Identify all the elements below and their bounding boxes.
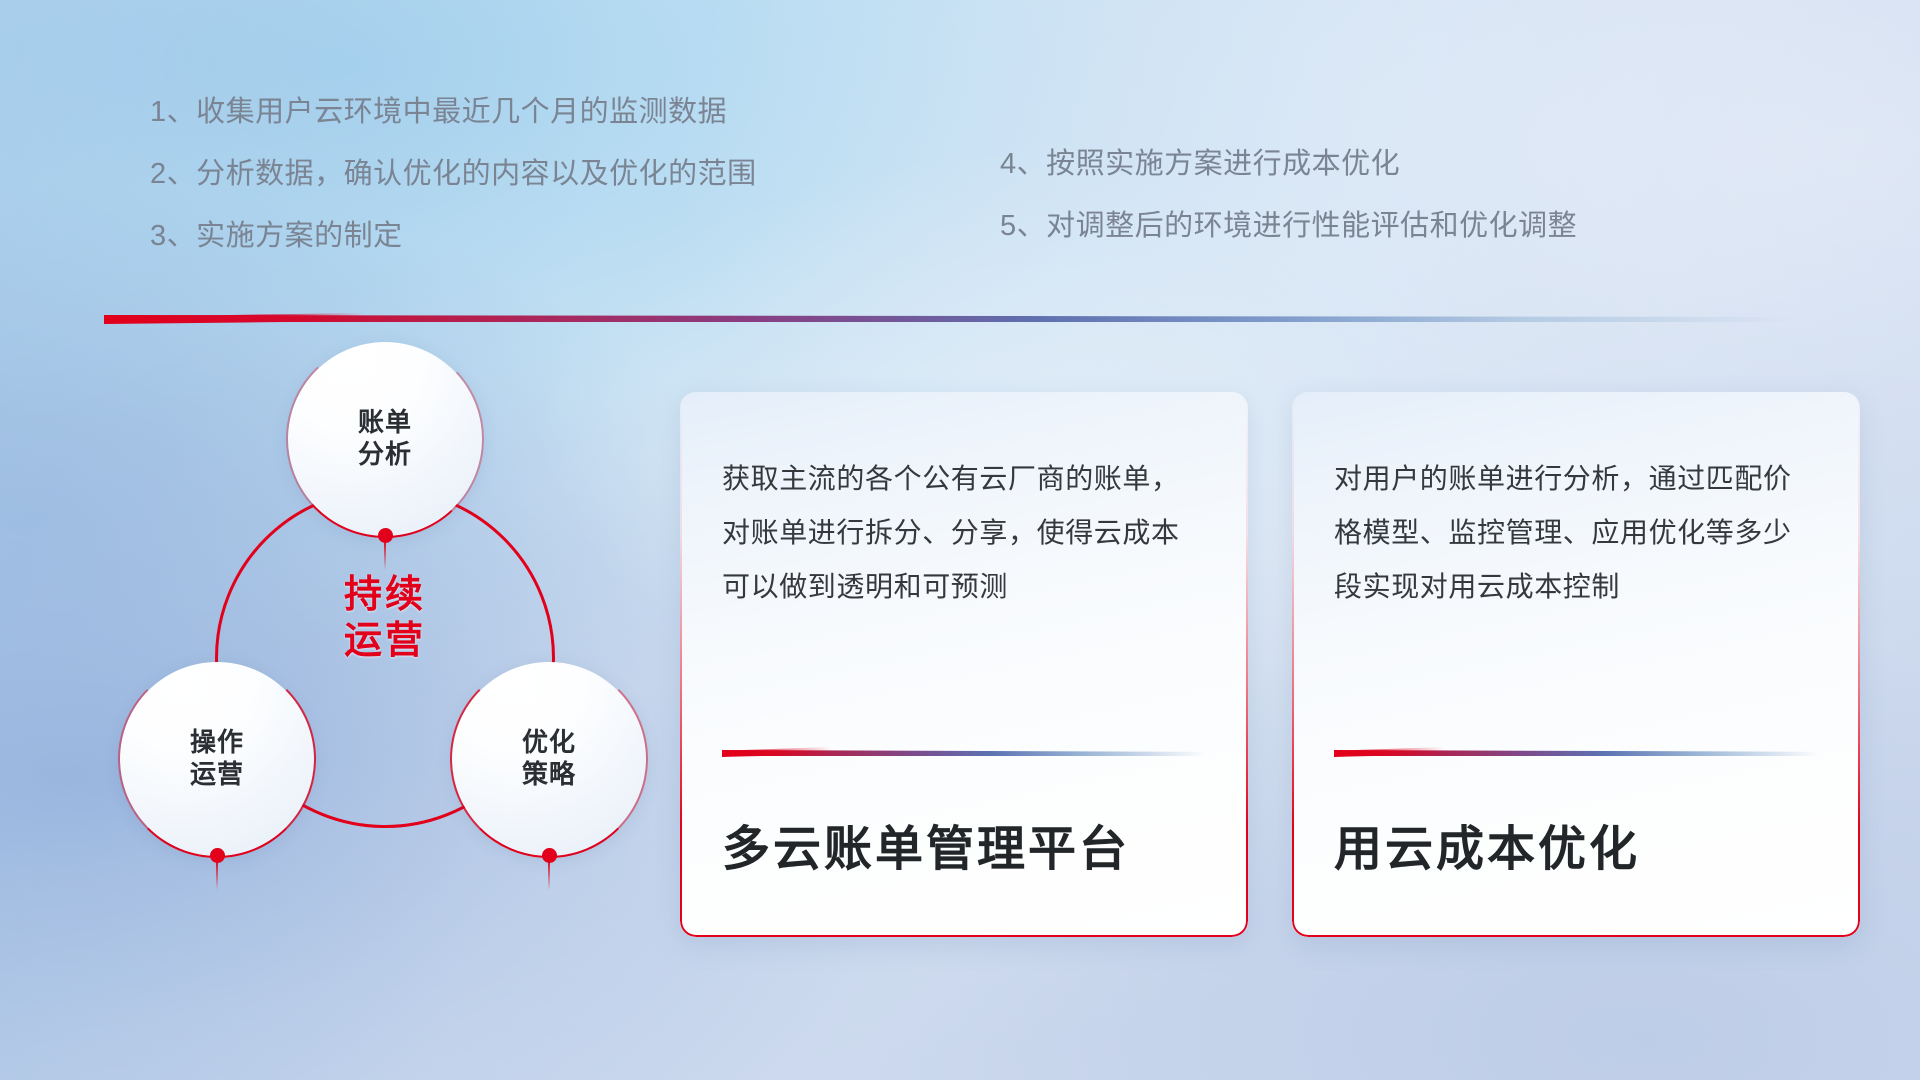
bubble-label-line2: 运营 [190, 759, 244, 791]
card-cloud-cost-optimization[interactable]: 对用户的账单进行分析，通过匹配价格模型、监控管理、应用优化等多少段实现对用云成本… [1292, 392, 1860, 937]
bubble-optimization-policy-label: 优化 策略 [522, 727, 576, 790]
bubble-label-line1: 操作 [190, 727, 244, 759]
center-label-line1: 持续 [215, 572, 555, 618]
process-steps-list: 1、收集用户云环境中最近几个月的监测数据 2、分析数据，确认优化的内容以及优化的… [0, 0, 1920, 300]
bubble-label-line1: 优化 [522, 727, 576, 759]
divider-red-tip [104, 313, 364, 324]
step-item-1: 1、收集用户云环境中最近几个月的监测数据 [150, 98, 757, 127]
bubble-bill-analysis[interactable]: 账单 分析 [288, 342, 482, 536]
center-label-line2: 运营 [215, 618, 555, 664]
step-item-5: 5、对调整后的环境进行性能评估和优化调整 [1000, 212, 1577, 241]
card-description: 获取主流的各个公有云厂商的账单，对账单进行拆分、分享，使得云成本可以做到透明和可… [722, 452, 1206, 613]
section-divider [104, 313, 1792, 324]
card-multi-cloud-bill-platform[interactable]: 获取主流的各个公有云厂商的账单，对账单进行拆分、分享，使得云成本可以做到透明和可… [680, 392, 1248, 937]
connector-tail-bottom-left [216, 860, 218, 890]
bubble-optimization-policy[interactable]: 优化 策略 [452, 662, 646, 856]
card-title: 用云成本优化 [1334, 809, 1818, 879]
card-accent-rule [1334, 747, 1818, 757]
step-item-4: 4、按照实施方案进行成本优化 [1000, 150, 1577, 179]
card-title: 多云账单管理平台 [722, 809, 1206, 879]
connector-tail-top [384, 540, 386, 570]
card-description: 对用户的账单进行分析，通过匹配价格模型、监控管理、应用优化等多少段实现对用云成本… [1334, 452, 1818, 613]
bubble-label-line2: 策略 [522, 759, 576, 791]
diagram-center-label: 持续 运营 [215, 572, 555, 665]
bubble-operation-running[interactable]: 操作 运营 [120, 662, 314, 856]
bubble-operation-running-label: 操作 运营 [190, 727, 244, 790]
node-dot-bottom-right-icon [542, 848, 557, 863]
bubble-label-line2: 分析 [358, 439, 412, 471]
steps-column-right: 4、按照实施方案进行成本优化 5、对调整后的环境进行性能评估和优化调整 [1000, 150, 1577, 274]
steps-column-left: 1、收集用户云环境中最近几个月的监测数据 2、分析数据，确认优化的内容以及优化的… [150, 98, 757, 284]
bubble-label-line1: 账单 [358, 407, 412, 439]
continuous-operation-diagram: 持续 运营 账单 分析 操作 运营 优化 策略 [100, 340, 640, 960]
node-dot-bottom-left-icon [210, 848, 225, 863]
bubble-bill-analysis-label: 账单 分析 [358, 407, 412, 470]
connector-tail-bottom-right [548, 860, 550, 890]
node-dot-top-icon [378, 528, 393, 543]
step-item-3: 3、实施方案的制定 [150, 222, 757, 251]
card-accent-rule [722, 747, 1206, 757]
step-item-2: 2、分析数据，确认优化的内容以及优化的范围 [150, 160, 757, 189]
